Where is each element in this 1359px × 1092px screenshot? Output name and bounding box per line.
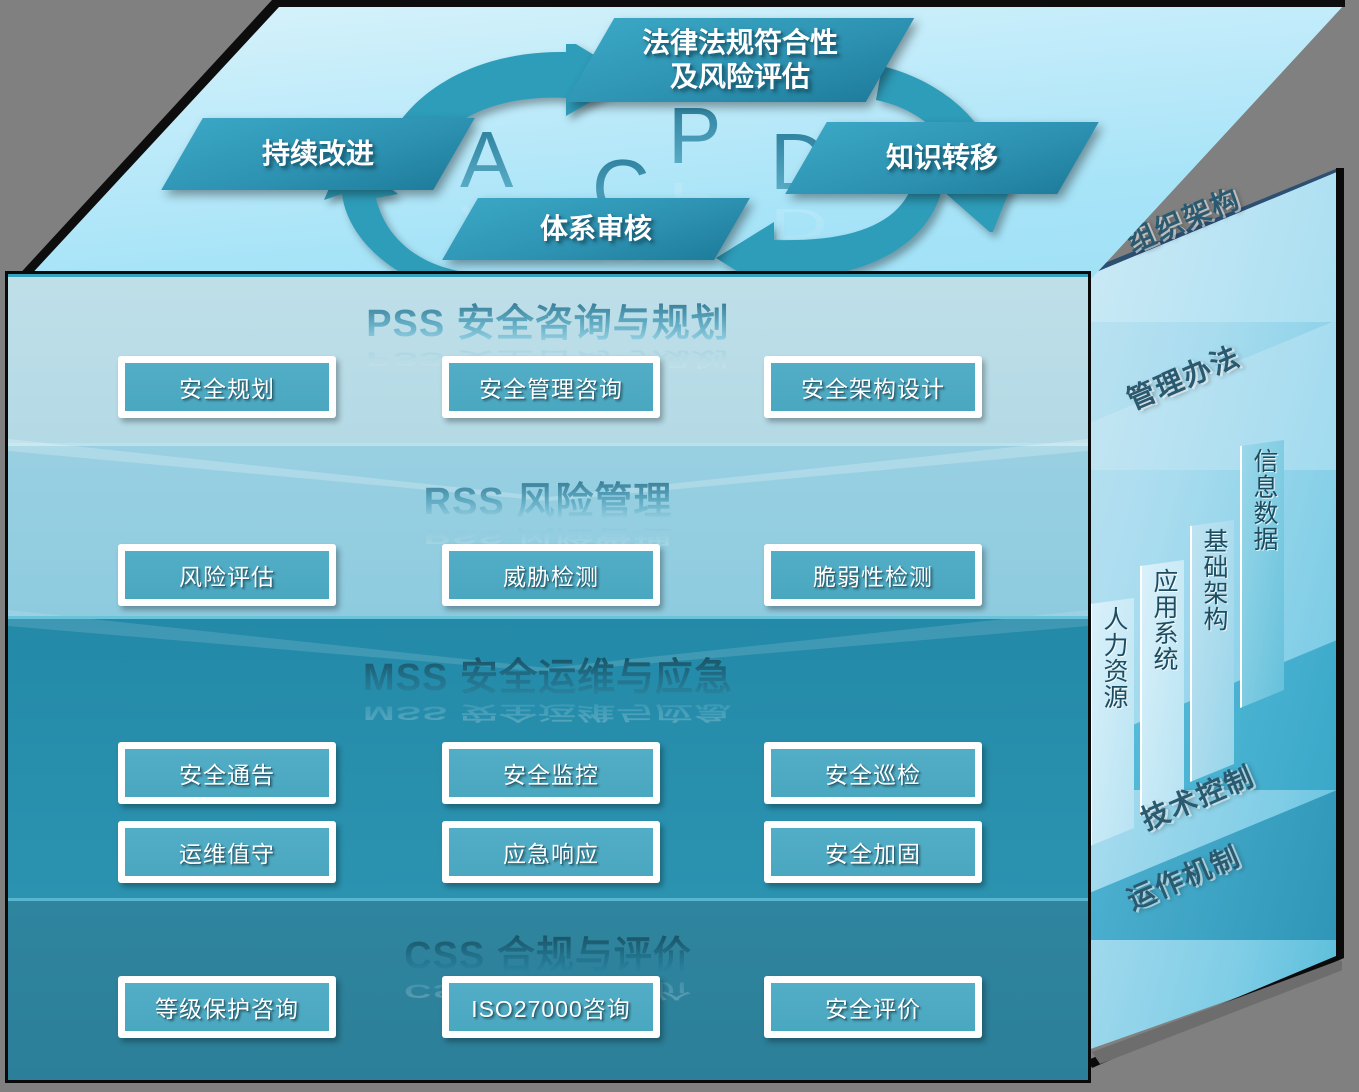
service-box[interactable]: 威胁检测: [442, 544, 660, 606]
service-box-label: 脆弱性检测: [813, 558, 933, 592]
service-box-fill: 运维值守: [125, 828, 329, 876]
service-box-fill: ISO27000咨询: [449, 983, 653, 1031]
side-column-information-data: 信息数据: [1240, 440, 1287, 708]
service-box-fill: 安全监控: [449, 749, 653, 797]
service-box-label: 安全规划: [179, 370, 275, 404]
service-box-label: 安全监控: [503, 756, 599, 790]
service-box[interactable]: ISO27000咨询: [442, 976, 660, 1038]
service-box-label: 安全巡检: [825, 756, 921, 790]
layer-rule-mss: [8, 616, 1088, 619]
service-box-label: 安全架构设计: [801, 370, 945, 404]
side-column-label: 应用系统: [1146, 568, 1182, 672]
cube-3d: 信息数据 基础架构 应用系统 人力资源 组织架构 管理办法 技术控制 运作机制: [0, 0, 1359, 1092]
service-box-fill: 安全架构设计: [771, 363, 975, 411]
service-box[interactable]: 安全监控: [442, 742, 660, 804]
service-box-fill: 风险评估: [125, 551, 329, 599]
service-box-label: 威胁检测: [503, 558, 599, 592]
service-box[interactable]: 风险评估: [118, 544, 336, 606]
side-column-label: 人力资源: [1096, 606, 1132, 710]
service-box-fill: 安全加固: [771, 828, 975, 876]
side-column-infrastructure: 基础架构: [1190, 520, 1237, 782]
service-box[interactable]: 安全巡检: [764, 742, 982, 804]
service-box-label: 安全评价: [825, 990, 921, 1024]
service-box-fill: 安全规划: [125, 363, 329, 411]
service-box[interactable]: 安全通告: [118, 742, 336, 804]
service-box-label: 安全管理咨询: [479, 370, 623, 404]
front-face: PSS 安全咨询与规划 PSS 安全咨询与规划 RSS 风险管理 RSS 风险管…: [8, 274, 1088, 1080]
layer-rule-top: [8, 274, 1088, 277]
service-box-label: 安全加固: [825, 835, 921, 869]
pdca-node-label: 知识转移: [886, 141, 998, 175]
service-box-fill: 安全管理咨询: [449, 363, 653, 411]
service-box[interactable]: 安全评价: [764, 976, 982, 1038]
layer-title-mss: MSS 安全运维与应急 MSS 安全运维与应急: [8, 646, 1088, 742]
side-column-human-resources: 人力资源: [1090, 598, 1137, 846]
service-box[interactable]: 等级保护咨询: [118, 976, 336, 1038]
service-box-fill: 等级保护咨询: [125, 983, 329, 1031]
layer-rule-css: [8, 898, 1088, 901]
service-box-label: 等级保护咨询: [155, 990, 299, 1024]
service-box-label: 风险评估: [179, 558, 275, 592]
pdca-node-check[interactable]: 体系审核: [460, 198, 732, 260]
service-box-fill: 应急响应: [449, 828, 653, 876]
side-column-label: 信息数据: [1246, 448, 1282, 552]
service-box-label: 安全通告: [179, 756, 275, 790]
pdca-node-label: 法律法规符合性 及风险评估: [642, 26, 838, 94]
service-box-fill: 安全巡检: [771, 749, 975, 797]
diagram-canvas: 信息数据 基础架构 应用系统 人力资源 组织架构 管理办法 技术控制 运作机制: [0, 0, 1359, 1092]
pdca-node-label: 体系审核: [540, 212, 652, 246]
pdca-node-do[interactable]: 知识转移: [806, 122, 1078, 194]
service-box[interactable]: 应急响应: [442, 821, 660, 883]
pdca-node-label: 持续改进: [262, 137, 374, 171]
pdca-node-act[interactable]: 持续改进: [182, 118, 454, 190]
service-box[interactable]: 安全规划: [118, 356, 336, 418]
service-box[interactable]: 脆弱性检测: [764, 544, 982, 606]
layer-rule-rss: [8, 443, 1088, 446]
service-box-label: 应急响应: [503, 835, 599, 869]
pdca-node-plan[interactable]: 法律法规符合性 及风险评估: [590, 18, 890, 102]
service-box-fill: 安全通告: [125, 749, 329, 797]
service-box[interactable]: 安全架构设计: [764, 356, 982, 418]
service-box-fill: 脆弱性检测: [771, 551, 975, 599]
service-box-fill: 威胁检测: [449, 551, 653, 599]
service-box-label: 运维值守: [179, 835, 275, 869]
service-box[interactable]: 安全加固: [764, 821, 982, 883]
side-column-label: 基础架构: [1196, 528, 1232, 632]
service-box-fill: 安全评价: [771, 983, 975, 1031]
side-column-application-system: 应用系统: [1140, 560, 1187, 816]
service-box-label: ISO27000咨询: [471, 990, 631, 1024]
service-box[interactable]: 运维值守: [118, 821, 336, 883]
service-box[interactable]: 安全管理咨询: [442, 356, 660, 418]
